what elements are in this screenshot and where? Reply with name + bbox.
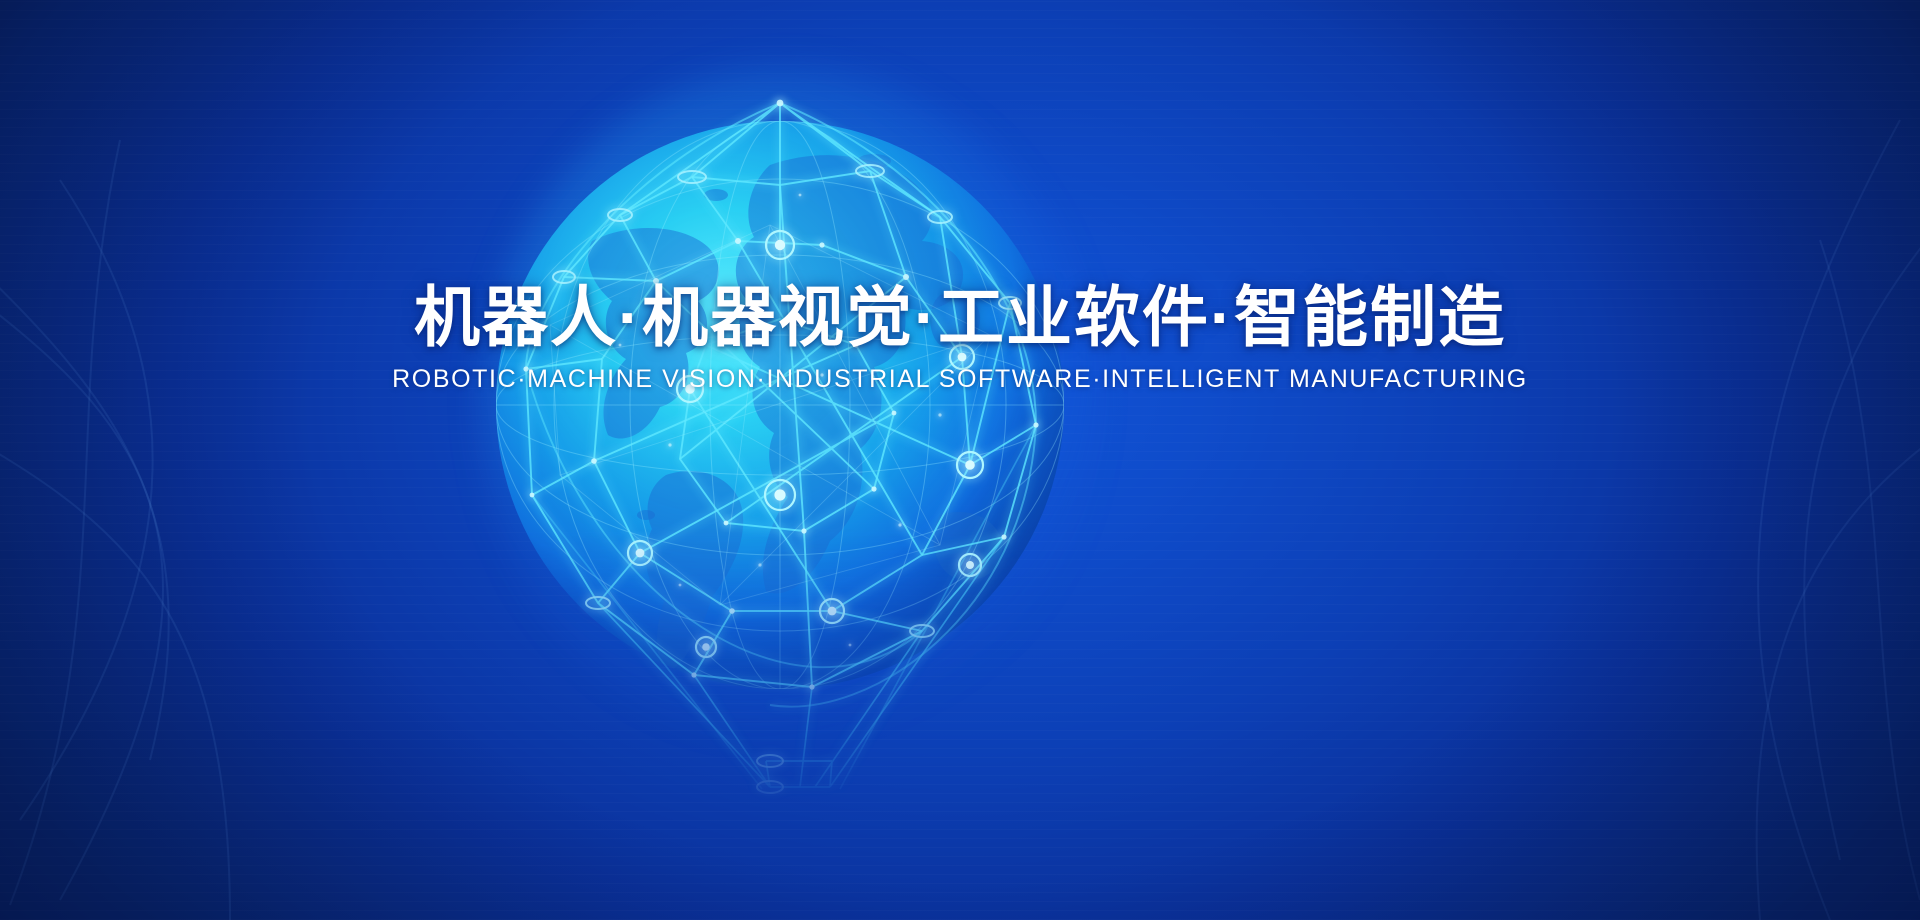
globe-wireframe-mesh bbox=[526, 103, 1036, 707]
background-vignette bbox=[0, 0, 1920, 920]
globe-continents bbox=[588, 154, 1002, 673]
globe-shading bbox=[496, 121, 1064, 689]
banner-headline: 机器人·机器视觉·工业软件·智能制造 bbox=[0, 282, 1920, 353]
network-globe-graphic bbox=[470, 45, 1110, 825]
background-texture bbox=[0, 0, 1920, 920]
globe-svg bbox=[470, 45, 1110, 825]
banner-subheadline: ROBOTIC·MACHINE VISION·INDUSTRIAL SOFTWA… bbox=[0, 365, 1920, 394]
background-swoosh-lines bbox=[0, 0, 1920, 920]
globe-glow bbox=[480, 65, 1100, 745]
globe-lower-spokes bbox=[532, 425, 1036, 789]
globe-sphere bbox=[496, 121, 1064, 689]
globe-graticule bbox=[496, 121, 1064, 689]
globe-network-nodes bbox=[523, 100, 1038, 793]
banner-copy: 机器人·机器视觉·工业软件·智能制造 ROBOTIC·MACHINE VISIO… bbox=[0, 282, 1920, 394]
hero-banner: 机器人·机器视觉·工业软件·智能制造 ROBOTIC·MACHINE VISIO… bbox=[0, 0, 1920, 920]
